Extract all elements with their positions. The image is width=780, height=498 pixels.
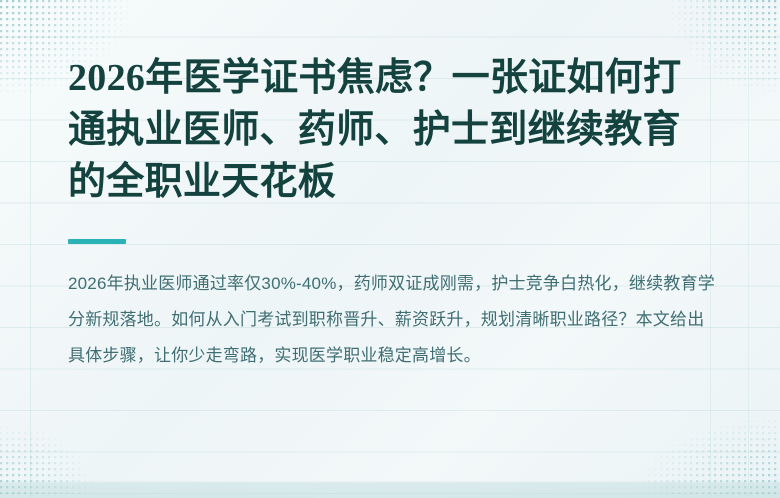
page-title: 2026年医学证书焦虑？一张证如何打通执业医师、药师、护士到继续教育的全职业天花…	[68, 0, 708, 208]
cover-content: 2026年医学证书焦虑？一张证如何打通执业医师、药师、护士到继续教育的全职业天花…	[0, 0, 780, 374]
article-summary: 2026年执业医师通过率仅30%-40%，药师双证成刚需，护士竞争白热化，继续教…	[68, 244, 716, 374]
article-cover-card: 2026年医学证书焦虑？一张证如何打通执业医师、药师、护士到继续教育的全职业天花…	[0, 0, 780, 498]
